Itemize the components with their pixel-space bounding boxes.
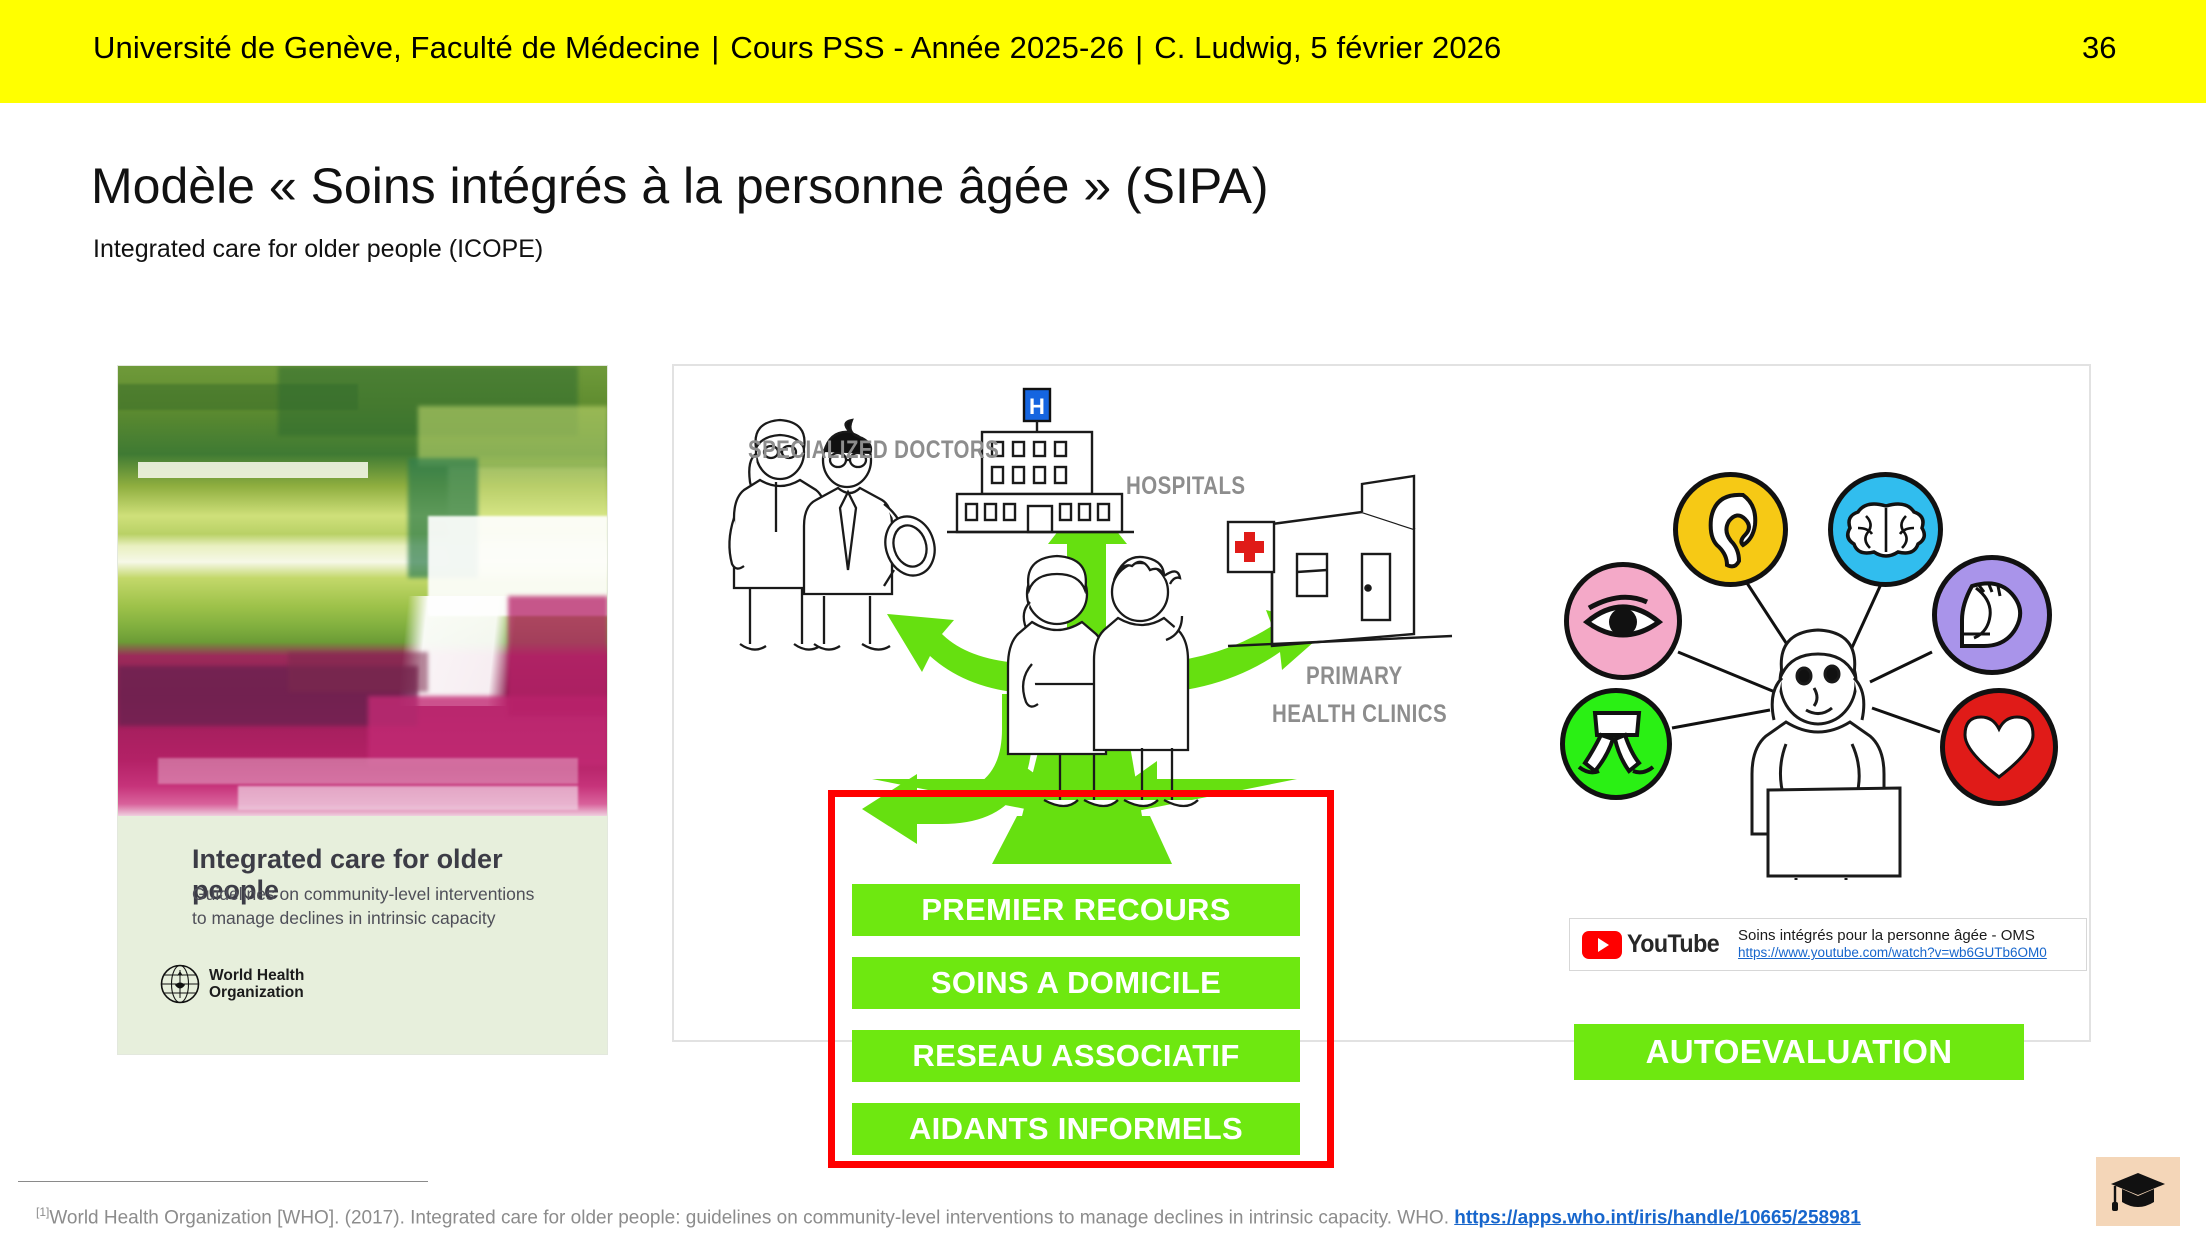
- graduation-cap-badge[interactable]: [2096, 1157, 2180, 1226]
- label-hospitals: HOSPITALS: [1126, 472, 1245, 501]
- footnote: [1]World Health Organization [WHO]. (201…: [36, 1205, 1861, 1229]
- youtube-text-block: Soins intégrés pour la personne âgée - O…: [1738, 927, 2047, 963]
- icope-bubble-vision: [1564, 562, 1682, 680]
- slide-header-band: Université de Genève, Faculté de Médecin…: [0, 0, 2206, 103]
- icope-bubble-hearing: [1673, 472, 1788, 587]
- youtube-brand-text: YouTube: [1627, 930, 1719, 959]
- who-line-2: Organization: [209, 984, 304, 1001]
- cover-subtitle: Guidelines on community-level interventi…: [192, 882, 547, 930]
- footnote-rule: [18, 1181, 428, 1182]
- walking-legs-icon: [1577, 709, 1655, 779]
- who-report-cover: Integrated care for older people Guideli…: [118, 366, 607, 1054]
- icope-bubble-psychological: [1940, 688, 2058, 806]
- icope-bubble-mobility: [1560, 688, 1672, 800]
- green-box-reseau-associatif: RESEAU ASSOCIATIF: [852, 1030, 1300, 1082]
- label-primary-line2: HEALTH CLINICS: [1272, 700, 1447, 729]
- youtube-link-card[interactable]: YouTube Soins intégrés pour la personne …: [1569, 918, 2087, 971]
- green-box-premier-recours: PREMIER RECOURS: [852, 884, 1300, 936]
- graduation-cap-icon: [2109, 1169, 2167, 1215]
- brain-icon: [1844, 500, 1928, 560]
- page-subtitle: Integrated care for older people (ICOPE): [93, 235, 543, 264]
- icope-domains-illustration: [1560, 460, 2080, 880]
- heart-icon: [1961, 713, 2037, 781]
- youtube-video-title: Soins intégrés pour la personne âgée - O…: [1738, 927, 2047, 946]
- header-course: Cours PSS - Année 2025-26: [730, 30, 1124, 65]
- who-logo-text: World Health Organization: [209, 967, 304, 1002]
- eye-icon: [1581, 592, 1665, 650]
- icope-bubble-cognition: [1828, 472, 1943, 587]
- header-separator-1: |: [700, 30, 730, 65]
- header-institution: Université de Genève, Faculté de Médecin…: [93, 30, 700, 65]
- autoevaluation-banner: AUTOEVALUATION: [1574, 1024, 2024, 1080]
- muscle-arm-icon: [1954, 576, 2030, 654]
- footnote-link[interactable]: https://apps.who.int/iris/handle/10665/2…: [1454, 1207, 1861, 1228]
- cover-artwork: [118, 366, 607, 816]
- footnote-text: World Health Organization [WHO]. (2017).…: [49, 1207, 1454, 1228]
- who-emblem-icon: [160, 964, 200, 1004]
- green-box-soins-a-domicile: SOINS A DOMICILE: [852, 957, 1300, 1009]
- header-author-date: C. Ludwig, 5 février 2026: [1154, 30, 1501, 65]
- page-number: 36: [2082, 30, 2116, 66]
- page-title: Modèle « Soins intégrés à la personne âg…: [91, 157, 1269, 215]
- youtube-video-url[interactable]: https://www.youtube.com/watch?v=wb6GUTb6…: [1738, 945, 2047, 962]
- label-primary-line1: PRIMARY: [1306, 662, 1403, 691]
- label-specialized-doctors: SPECIALIZED DOCTORS: [748, 436, 999, 465]
- icope-bubble-strength: [1932, 555, 2052, 675]
- header-text: Université de Genève, Faculté de Médecin…: [93, 30, 1501, 66]
- footnote-marker: [1]: [36, 1205, 49, 1219]
- who-line-1: World Health: [209, 967, 304, 984]
- youtube-play-icon: [1582, 931, 1622, 959]
- youtube-logo: YouTube: [1582, 930, 1726, 959]
- ear-icon: [1699, 489, 1763, 571]
- who-logo: World Health Organization: [160, 962, 365, 1006]
- header-separator-2: |: [1124, 30, 1154, 65]
- green-box-aidants-informels: AIDANTS INFORMELS: [852, 1103, 1300, 1155]
